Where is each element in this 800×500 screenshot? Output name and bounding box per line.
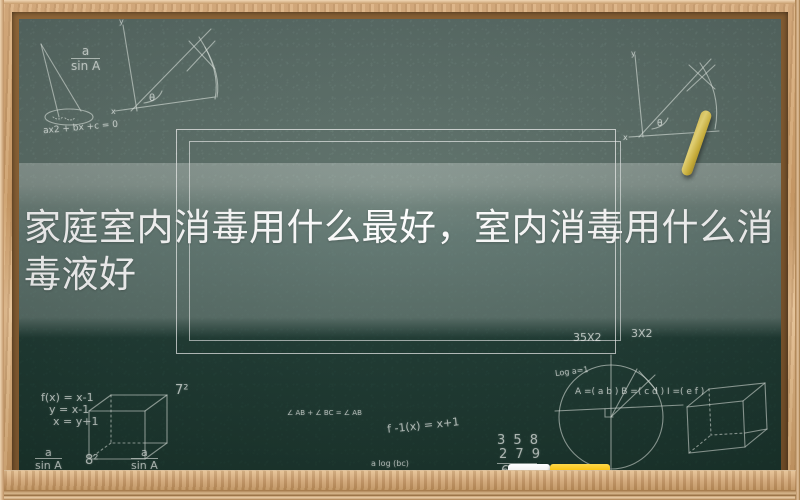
- chalkboard-surface: a / sin A a sin A ax2 + bx +c = 0 y x θ …: [19, 19, 781, 478]
- chalkboard-title-card: a / sin A a sin A ax2 + bx +c = 0 y x θ …: [0, 0, 800, 500]
- frame-highlight-right: [795, 0, 800, 500]
- chalk-tray-lip: [4, 490, 796, 496]
- frame-highlight-top: [0, 0, 800, 4]
- board-vignette: [19, 19, 781, 478]
- frame-highlight-left: [0, 0, 4, 500]
- chalk-tray: [4, 470, 796, 496]
